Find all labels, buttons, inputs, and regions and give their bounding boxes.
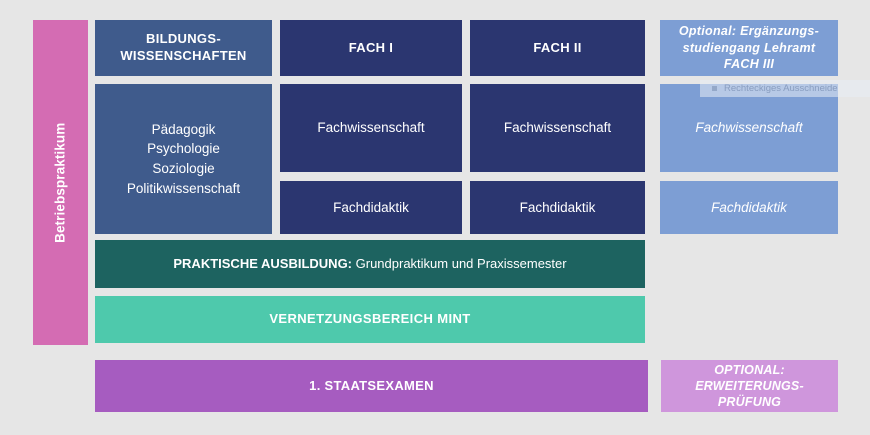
column-header-bildungswissenschaften: BILDUNGS- WISSENSCHAFTEN — [95, 20, 272, 76]
cell-bildungswissenschaften-subjects: Pädagogik Psychologie Soziologie Politik… — [95, 84, 272, 234]
cell-fach-1-fachdidaktik: Fachdidaktik — [280, 181, 462, 234]
diagram-canvas: Betriebspraktikum BILDUNGS- WISSENSCHAFT… — [0, 0, 870, 435]
bar-praktische-ausbildung-detail: Grundpraktikum und Praxissemester — [352, 256, 567, 271]
cell-fach-3-fachwissenschaft: Fachwissenschaft — [660, 84, 838, 172]
cell-fach-2-fachwissenschaft: Fachwissenschaft — [470, 84, 645, 172]
bar-optional-erweiterungspruefung: OPTIONAL: ERWEITERUNGS- PRÜFUNG — [661, 360, 838, 412]
cell-fach-1-fachwissenschaft: Fachwissenschaft — [280, 84, 462, 172]
column-header-fach-2: FACH II — [470, 20, 645, 76]
cell-fach-2-fachdidaktik: Fachdidaktik — [470, 181, 645, 234]
internship-bar: Betriebspraktikum — [33, 20, 88, 345]
bar-praktische-ausbildung-title: PRAKTISCHE AUSBILDUNG: — [173, 256, 352, 271]
column-header-fach-1: FACH I — [280, 20, 462, 76]
bar-erstes-staatsexamen: 1. STAATSEXAMEN — [95, 360, 648, 412]
cell-fach-3-fachdidaktik: Fachdidaktik — [660, 181, 838, 234]
bar-vernetzungsbereich-mint: VERNETZUNGSBEREICH MINT — [95, 296, 645, 343]
bar-praktische-ausbildung: PRAKTISCHE AUSBILDUNG: Grundpraktikum un… — [95, 240, 645, 288]
internship-bar-label: Betriebspraktikum — [52, 122, 70, 242]
column-header-fach-3-optional: Optional: Ergänzungs- studiengang Lehram… — [660, 20, 838, 76]
